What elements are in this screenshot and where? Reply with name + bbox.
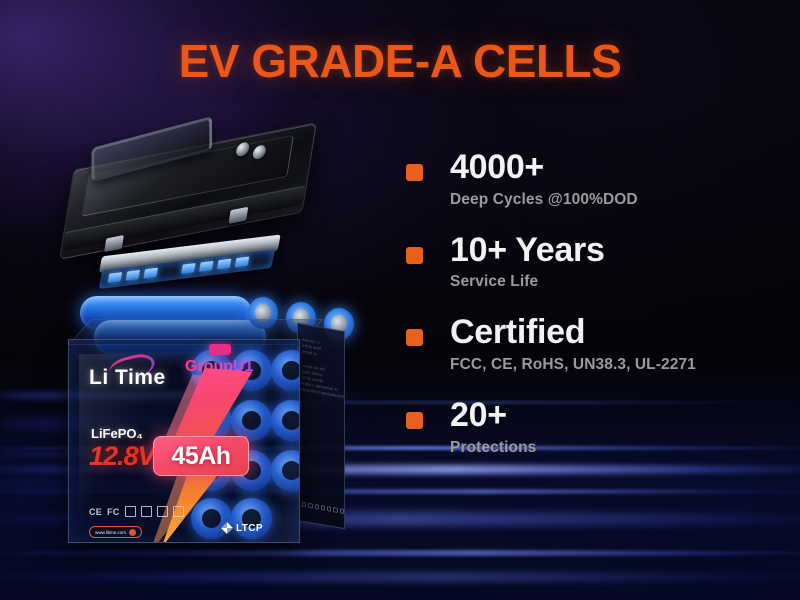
partner-logo: LTCP [221, 522, 263, 534]
recycle-icon [157, 506, 168, 517]
ul-icon [173, 506, 184, 517]
case-front-face: Li Time GroupU1 and more LiFePO₄ 12.8V 4… [68, 339, 300, 543]
feature-item: Certified FCC, CE, RoHS, UN38.3, UL-2271 [406, 315, 796, 374]
feature-title: 10+ Years [450, 233, 796, 269]
product-illustration: ⚠ Caution Risk of fire or burns Do not o… [28, 130, 388, 560]
feature-subtitle: FCC, CE, RoHS, UN38.3, UL-2271 [450, 356, 796, 374]
feature-list: 4000+ Deep Cycles @100%DOD 10+ Years Ser… [406, 150, 796, 457]
check-mark-icon [125, 506, 136, 517]
ce-mark-icon: CE [89, 507, 102, 517]
feature-subtitle: Deep Cycles @100%DOD [450, 191, 796, 209]
feature-subtitle: Protections [450, 439, 796, 457]
light-streak [0, 572, 800, 582]
certification-marks: CE FC [89, 506, 184, 517]
chemistry-label: LiFePO₄ [91, 426, 143, 441]
capacity-label: 45Ah [171, 442, 230, 471]
cell-end-face [271, 450, 300, 491]
website-url: www.litime.com [95, 530, 126, 535]
side-warning-text: ⚠ Caution Risk of fire or burns Do not o… [302, 337, 344, 400]
feature-item: 20+ Protections [406, 398, 796, 457]
square-bullet-icon [406, 412, 423, 429]
square-bullet-icon [406, 329, 423, 346]
feature-title: 20+ [450, 398, 796, 434]
feature-title: Certified [450, 315, 796, 351]
fcc-mark-icon: FC [107, 507, 120, 517]
feature-subtitle: Service Life [450, 273, 796, 291]
brand-logo-li: Li [89, 366, 109, 389]
square-bullet-icon [406, 164, 423, 181]
feature-item: 10+ Years Service Life [406, 233, 796, 292]
cell-end-face [271, 350, 300, 391]
ltcp-mark-icon [221, 522, 233, 534]
square-bullet-icon [406, 247, 423, 264]
crossed-bin-icon [141, 506, 152, 517]
group-badge-icon [209, 344, 231, 355]
page-title: EV GRADE-A CELLS [0, 34, 800, 88]
website-pill[interactable]: www.litime.com [89, 526, 142, 538]
feature-title: 4000+ [450, 150, 796, 186]
website-dot-icon [129, 529, 136, 536]
cell-end-face [271, 400, 300, 441]
promo-banner: EV GRADE-A CELLS [0, 0, 800, 600]
battery-case: ⚠ Caution Risk of fire or burns Do not o… [58, 325, 348, 555]
case-side-face: ⚠ Caution Risk of fire or burns Do not o… [297, 323, 345, 529]
side-symbol-row [302, 502, 344, 514]
feature-item: 4000+ Deep Cycles @100%DOD [406, 150, 796, 209]
cover-clip [104, 235, 124, 252]
capacity-badge: 45Ah [153, 436, 249, 476]
ltcp-label: LTCP [236, 523, 263, 534]
